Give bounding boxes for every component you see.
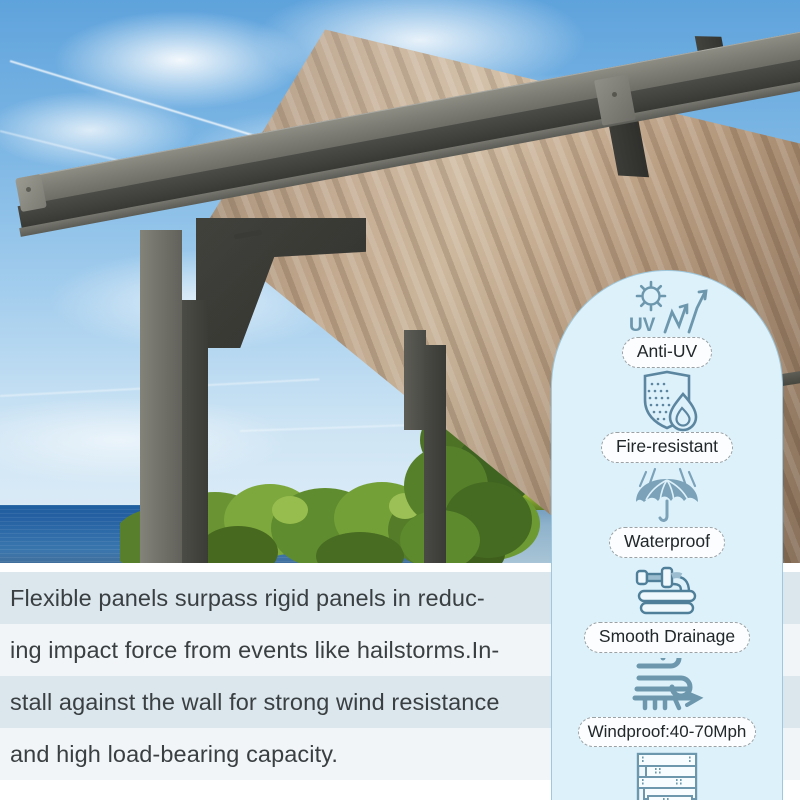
frame-beams-icon xyxy=(622,749,712,800)
shield-flame-icon xyxy=(621,370,713,432)
feature-label-windproof: Windproof:40-70Mph xyxy=(578,717,757,747)
feature-item-smooth-drainage: Smooth Drainage xyxy=(552,560,782,653)
feature-label-smooth-drainage: Smooth Drainage xyxy=(584,622,750,653)
sun-uv-arrows-icon: UV xyxy=(619,279,715,337)
product-infographic: Flexible panels surpass rigid panels in … xyxy=(0,0,800,800)
feature-label-anti-uv: Anti-UV xyxy=(622,337,712,368)
feature-highlights-panel: UV Anti-UV xyxy=(551,270,783,800)
feature-item-waterproof: Waterproof xyxy=(552,465,782,558)
beam-cap-screw xyxy=(26,187,31,192)
umbrella-rain-icon xyxy=(619,465,715,527)
feature-label-fire-resistant: Fire-resistant xyxy=(601,432,733,463)
wind-gust-icon xyxy=(619,655,715,717)
support-post xyxy=(424,345,446,563)
feature-item-heavy-duty-frame: Feavy-duty Frame xyxy=(552,749,782,800)
support-post xyxy=(404,330,426,430)
feature-item-fire-resistant: Fire-resistant xyxy=(552,370,782,463)
support-post-shadow-side xyxy=(182,300,208,563)
beam-joint-screw xyxy=(612,92,617,97)
coiled-hose-icon xyxy=(619,560,715,622)
feature-item-windproof: Windproof:40-70Mph xyxy=(552,655,782,747)
main-support-post xyxy=(140,230,182,563)
svg-text:UV: UV xyxy=(629,315,656,336)
feature-label-waterproof: Waterproof xyxy=(609,527,725,558)
